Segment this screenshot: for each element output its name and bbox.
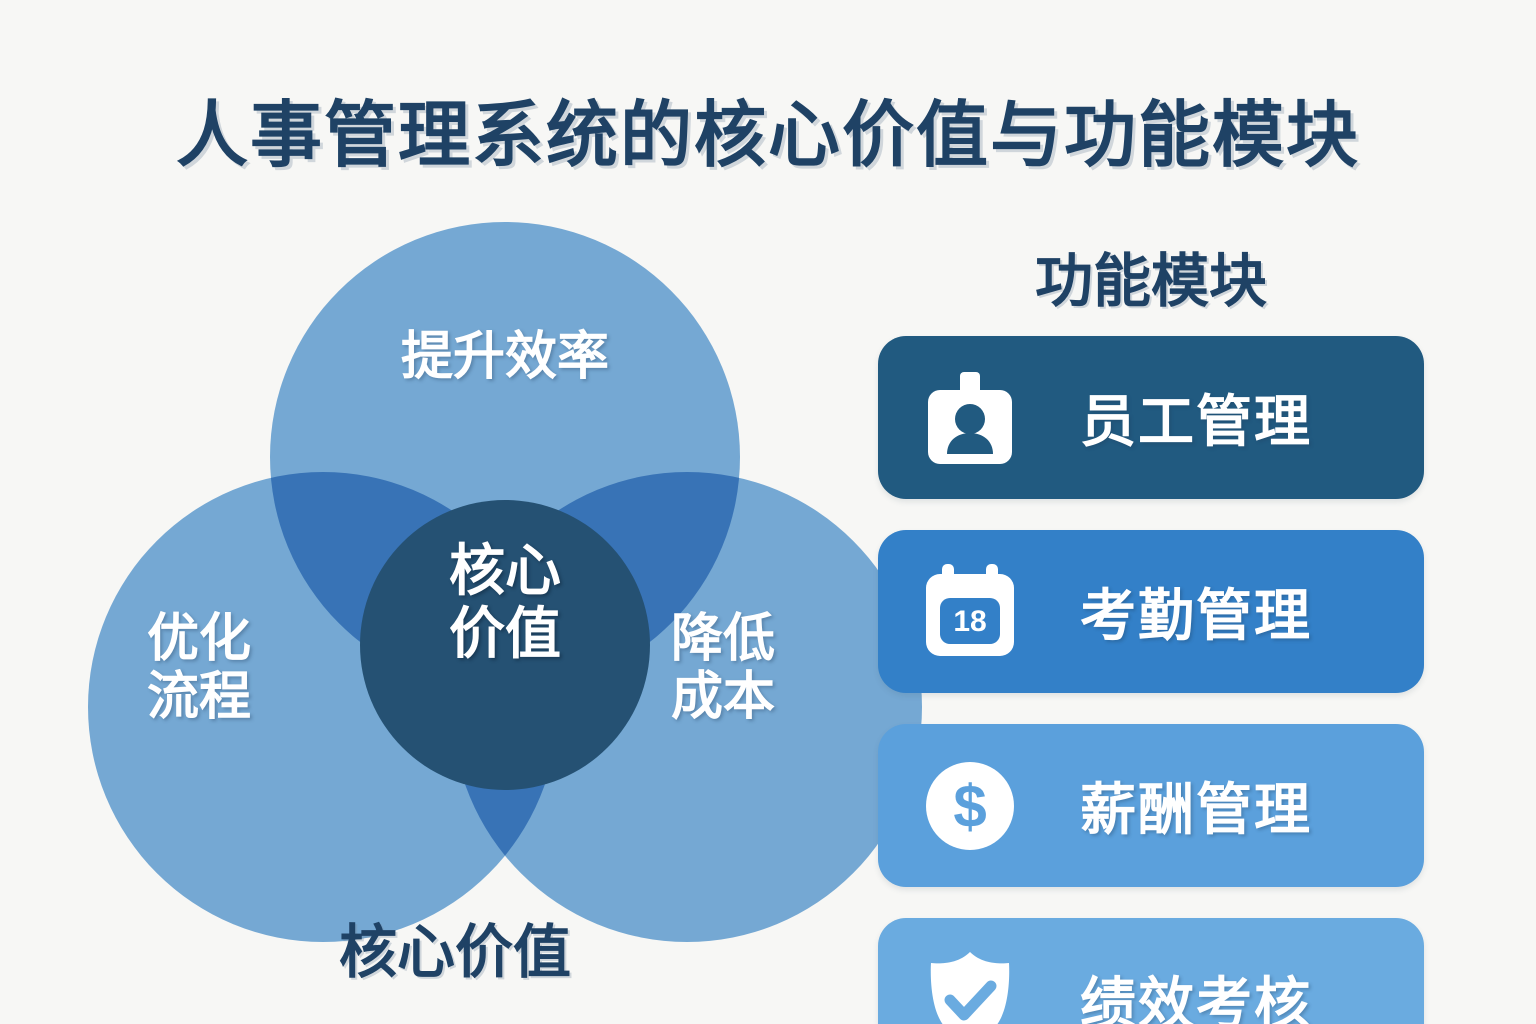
module-card[interactable]: $薪酬管理 bbox=[878, 724, 1424, 887]
module-card[interactable]: 员工管理 bbox=[878, 336, 1424, 499]
module-card[interactable]: 18考勤管理 bbox=[878, 530, 1424, 693]
id-badge-icon bbox=[918, 366, 1022, 470]
venn-label-left: 优化 流程 bbox=[84, 610, 314, 726]
module-label: 薪酬管理 bbox=[1080, 765, 1312, 846]
infographic-canvas: 人事管理系统的核心价值与功能模块 提升效率 优化 流程 降低 成本 核心 价值 … bbox=[0, 0, 1536, 1024]
shield-check-icon bbox=[918, 948, 1022, 1024]
svg-text:18: 18 bbox=[953, 605, 986, 638]
module-label: 绩效考核 bbox=[1080, 959, 1312, 1024]
module-label: 考勤管理 bbox=[1080, 571, 1312, 652]
venn-caption: 核心价值 bbox=[60, 905, 850, 989]
venn-label-top: 提升效率 bbox=[270, 328, 740, 386]
page-title: 人事管理系统的核心价值与功能模块 bbox=[0, 76, 1536, 181]
module-card[interactable]: 绩效考核 bbox=[878, 918, 1424, 1024]
svg-text:$: $ bbox=[953, 773, 986, 840]
modules-heading: 功能模块 bbox=[878, 234, 1424, 318]
modules-list: 员工管理18考勤管理$薪酬管理绩效考核 bbox=[878, 336, 1424, 1024]
module-label: 员工管理 bbox=[1080, 377, 1312, 458]
venn-diagram: 提升效率 优化 流程 降低 成本 核心 价值 bbox=[60, 200, 850, 930]
dollar-circle-icon: $ bbox=[918, 754, 1022, 858]
venn-label-center: 核心 价值 bbox=[360, 540, 650, 665]
calendar-icon: 18 bbox=[918, 560, 1022, 664]
